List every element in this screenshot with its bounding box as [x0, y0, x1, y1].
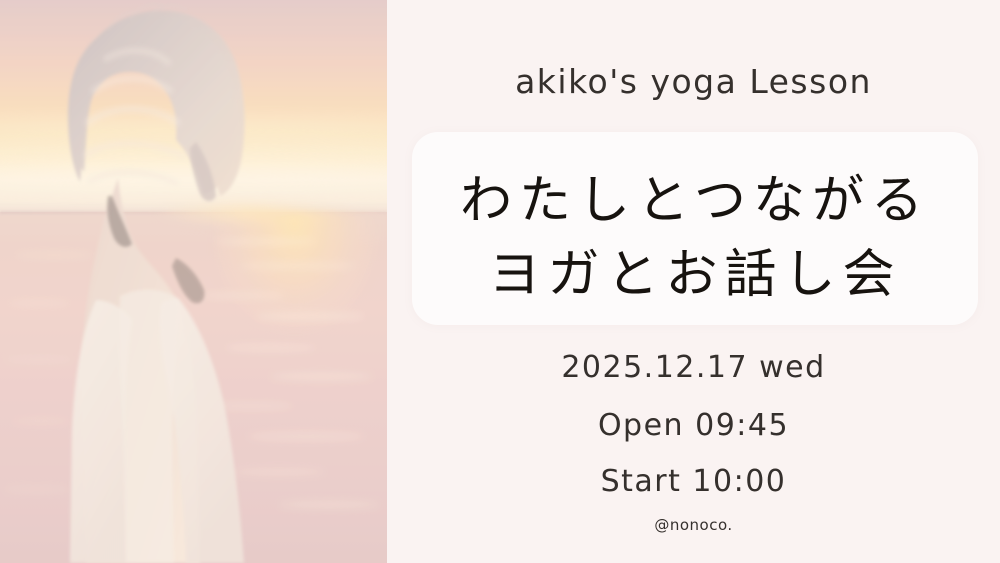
content-panel: akiko's yoga Lesson わたしとつながる ヨガとお話し会 202… [387, 0, 1000, 563]
flyer-canvas: akiko's yoga Lesson わたしとつながる ヨガとお話し会 202… [0, 0, 1000, 563]
card-title-line-1: わたしとつながる [412, 158, 978, 233]
title-card: わたしとつながる ヨガとお話し会 [412, 132, 978, 325]
event-open-time: Open 09:45 [387, 408, 1000, 443]
event-date: 2025.12.17 wed [387, 350, 1000, 385]
page-title: akiko's yoga Lesson [387, 62, 1000, 101]
woman-silhouette [0, 0, 387, 563]
card-title-line-2: ヨガとお話し会 [412, 232, 978, 307]
event-start-time: Start 10:00 [387, 464, 1000, 499]
social-handle: @nonoco. [387, 516, 1000, 534]
sunset-photo [0, 0, 387, 563]
